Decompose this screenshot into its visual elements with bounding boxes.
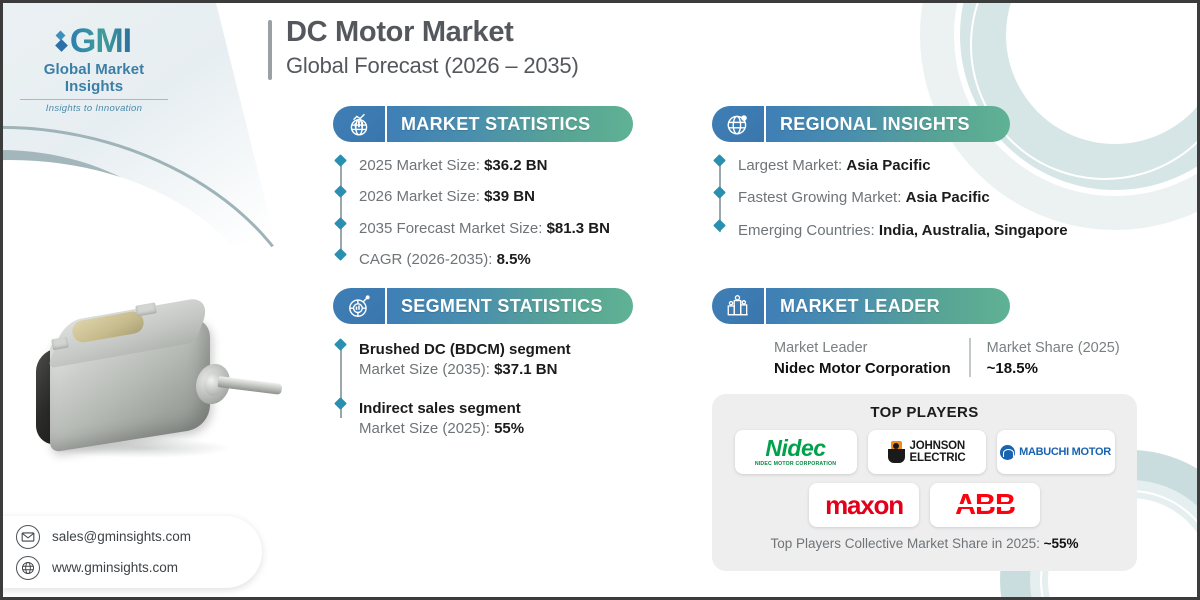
logo-row-1: Nidec NIDEC MOTOR CORPORATION JOHNSON EL… — [726, 430, 1123, 474]
title-accent-bar — [268, 20, 272, 80]
collective-share-value: ~55% — [1044, 536, 1079, 551]
abb-wordmark: ABB — [955, 489, 1015, 522]
list-item: Emerging Countries: India, Australia, Si… — [738, 221, 1012, 241]
globe-icon — [16, 556, 40, 580]
item-label: Market Size (2025): — [359, 420, 494, 437]
bullet-dot — [713, 154, 726, 167]
item-value: Asia Pacific — [846, 157, 930, 174]
item-label: Largest Market: — [738, 157, 846, 174]
contact-website-row[interactable]: www.gminsights.com — [16, 556, 262, 580]
section-title: REGIONAL INSIGHTS — [780, 114, 970, 135]
item-label: 2035 Forecast Market Size: — [359, 220, 547, 237]
gmi-logo: GMI Global Market Insights Insights to I… — [14, 24, 174, 114]
gmi-diamond-icon — [57, 32, 66, 50]
item-label: 2026 Market Size: — [359, 188, 484, 205]
bullet-dot — [334, 154, 347, 167]
item-label: CAGR (2026-2035): — [359, 251, 497, 268]
mabuchi-mark-icon — [1000, 445, 1015, 460]
bullet-dot — [334, 185, 347, 198]
list-item: 2035 Forecast Market Size: $81.3 BN — [359, 219, 633, 239]
list-item: 2025 Market Size: $36.2 BN — [359, 156, 633, 176]
item-lead: Indirect sales segment — [359, 399, 524, 419]
maxon-wordmark: maxon — [825, 490, 903, 521]
item-value: $81.3 BN — [547, 220, 610, 237]
top-players-title: TOP PLAYERS — [726, 404, 1123, 421]
player-logo-abb: ABB — [930, 483, 1040, 527]
bullet-dot — [334, 397, 347, 410]
collective-share-label: Top Players Collective Market Share in 2… — [770, 536, 1043, 551]
list-item: CAGR (2026-2035): 8.5% — [359, 250, 633, 270]
list-item: Fastest Growing Market: Asia Pacific — [738, 188, 1012, 208]
page-title: DC Motor Market — [286, 16, 579, 49]
mabuchi-wordmark: MABUCHI MOTOR — [1019, 446, 1111, 458]
section-market-statistics: MARKET STATISTICS 2025 Market Size: $36.… — [333, 106, 633, 281]
contact-panel: sales@gminsights.com www.gminsights.com — [0, 516, 262, 588]
bullet-list: 2025 Market Size: $36.2 BN 2026 Market S… — [333, 156, 633, 270]
item-label: 2025 Market Size: — [359, 157, 484, 174]
market-leader-details: Market Leader Nidec Motor Corporation Ma… — [712, 338, 1012, 377]
item-value: $37.1 BN — [494, 361, 557, 378]
leader-label: Market Leader — [774, 338, 951, 360]
contact-email[interactable]: sales@gminsights.com — [52, 529, 191, 544]
bullet-dot — [334, 248, 347, 261]
johnson-electric-mark-icon — [888, 441, 905, 463]
bullet-dot — [713, 186, 726, 199]
section-market-leader: MARKET LEADER Market Leader Nidec Motor … — [712, 288, 1012, 377]
item-value: $39 BN — [484, 188, 535, 205]
list-item: Indirect sales segment Market Size (2025… — [359, 399, 633, 440]
logo-company-name: Global Market Insights — [14, 61, 174, 95]
player-logo-johnson-electric: JOHNSON ELECTRIC — [868, 430, 986, 474]
bullet-dot — [334, 338, 347, 351]
bullet-list: Largest Market: Asia Pacific Fastest Gro… — [712, 156, 1012, 241]
logo-initials: GMI — [70, 24, 131, 58]
bullet-dot — [334, 217, 347, 230]
item-value: India, Australia, Singapore — [879, 222, 1068, 239]
page-title-block: DC Motor Market Global Forecast (2026 – … — [268, 16, 579, 80]
item-value: $36.2 BN — [484, 157, 547, 174]
item-value: Asia Pacific — [906, 189, 990, 206]
section-title: MARKET STATISTICS — [401, 114, 590, 135]
contact-website[interactable]: www.gminsights.com — [52, 560, 178, 575]
infographic-canvas: GMI Global Market Insights Insights to I… — [0, 0, 1200, 600]
donut-chart-icon — [333, 288, 385, 324]
envelope-icon — [16, 525, 40, 549]
dc-motor-photo — [28, 290, 288, 480]
item-label: Fastest Growing Market: — [738, 189, 906, 206]
list-item: Largest Market: Asia Pacific — [738, 156, 1012, 176]
logo-tagline: Insights to Innovation — [14, 103, 174, 114]
logo-row-2: maxon ABB — [726, 483, 1123, 527]
section-regional-insights: REGIONAL INSIGHTS Largest Market: Asia P… — [712, 106, 1012, 253]
page-subtitle: Global Forecast (2026 – 2035) — [286, 53, 579, 79]
podium-icon — [712, 288, 764, 324]
item-label: Market Size (2035): — [359, 361, 494, 378]
item-lead: Brushed DC (BDCM) segment — [359, 340, 571, 360]
nidec-wordmark: Nidec — [755, 437, 836, 460]
item-label: Emerging Countries: — [738, 222, 879, 239]
johnson-line2: ELECTRIC — [910, 452, 966, 464]
top-players-panel: TOP PLAYERS Nidec NIDEC MOTOR CORPORATIO… — [712, 394, 1137, 571]
logo-divider — [20, 99, 168, 100]
contact-email-row[interactable]: sales@gminsights.com — [16, 525, 262, 549]
player-logo-maxon: maxon — [809, 483, 919, 527]
leader-name: Nidec Motor Corporation — [774, 360, 951, 377]
item-value: 55% — [494, 420, 524, 437]
bullet-list: Brushed DC (BDCM) segment Market Size (2… — [333, 340, 633, 439]
bullet-dot — [713, 219, 726, 232]
list-item: 2026 Market Size: $39 BN — [359, 187, 633, 207]
section-segment-statistics: SEGMENT STATISTICS Brushed DC (BDCM) seg… — [333, 288, 633, 457]
player-logo-nidec: Nidec NIDEC MOTOR CORPORATION — [735, 430, 857, 474]
player-logo-mabuchi-motor: MABUCHI MOTOR — [997, 430, 1115, 474]
item-value: 8.5% — [497, 251, 531, 268]
johnson-line1: JOHNSON — [910, 440, 966, 452]
market-share-label: Market Share (2025) — [987, 338, 1120, 360]
nidec-subtitle: NIDEC MOTOR CORPORATION — [755, 462, 836, 467]
market-share-value: ~18.5% — [987, 360, 1120, 377]
globe-chart-icon — [333, 106, 385, 142]
list-item: Brushed DC (BDCM) segment Market Size (2… — [359, 340, 633, 381]
section-title: SEGMENT STATISTICS — [401, 296, 603, 317]
globe-pin-icon — [712, 106, 764, 142]
section-title: MARKET LEADER — [780, 296, 940, 317]
